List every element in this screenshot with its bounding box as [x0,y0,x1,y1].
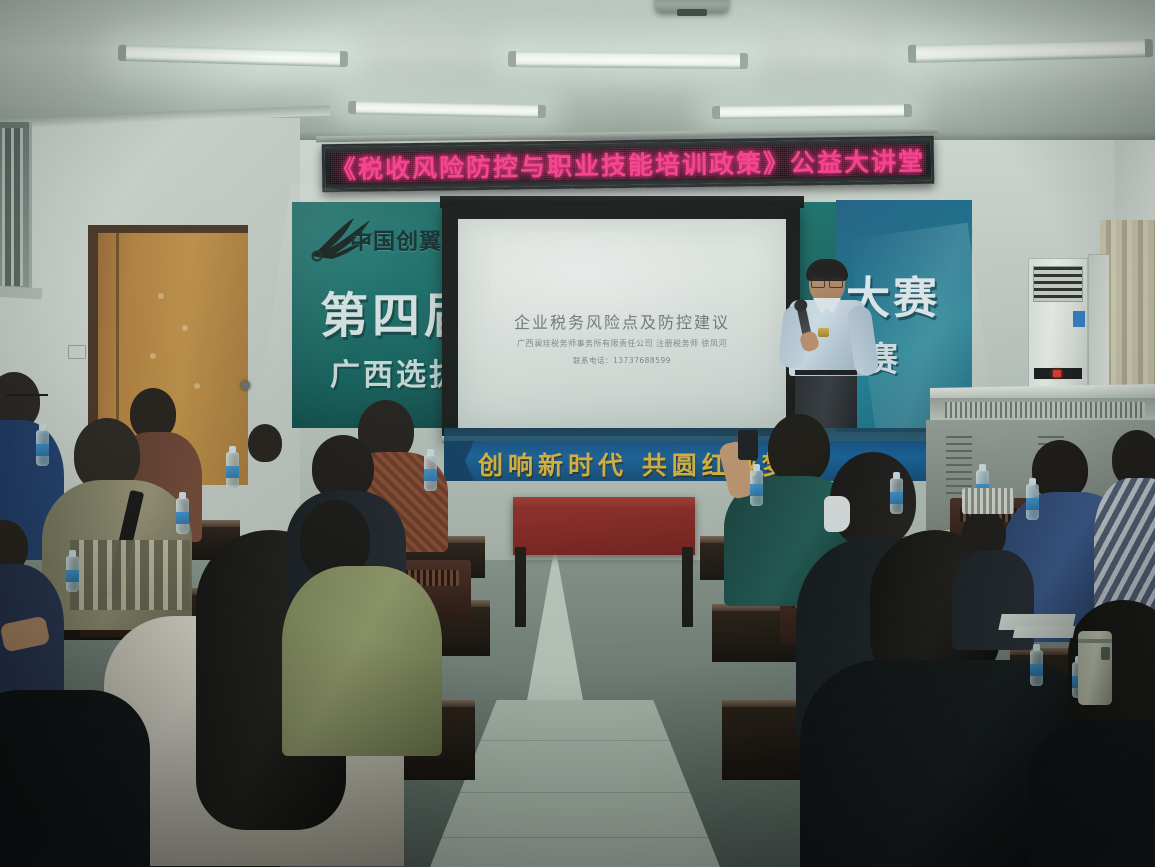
water-bottle[interactable] [750,470,763,506]
floor-standing-air-conditioner[interactable] [1028,258,1088,388]
ac-brand-badge [1073,311,1085,327]
ceiling-light-back-right [908,39,1153,63]
led-banner-text: 《税收风险防控与职业技能培训政策》公益大讲堂 [331,144,925,184]
projection-screen: 企业税务风险点及防控建议 广西澜珪税务师事务所有限责任公司 注册税务师 徐凤河 … [442,204,800,440]
slide-subtitle-line1: 广西澜珪税务师事务所有限责任公司 注册税务师 徐凤河 [458,338,786,349]
ceiling-light-front-right [712,104,912,119]
water-bottle[interactable] [66,556,79,592]
green-thermos-flask[interactable] [1078,631,1112,705]
patterned-handbag[interactable] [962,488,1014,514]
ac-vent-icon [1033,266,1083,302]
air-conditioner-side-panel [1088,254,1110,390]
face-mask-icon [824,496,850,532]
lecture-hall-photo: 《税收风险防控与职业技能培训政策》公益大讲堂 中国创翼 第四届 广西选拔 大赛 … [0,0,1155,867]
barred-window [0,122,32,292]
eyeglasses-icon [811,277,843,285]
water-bottle[interactable] [890,478,903,514]
water-bottle[interactable] [226,452,239,488]
loose-papers-on-desk[interactable] [1013,626,1076,638]
projected-slide: 企业税务风险点及防控建议 广西澜珪税务师事务所有限责任公司 注册税务师 徐凤河 … [458,219,786,428]
slide-subtitle-line2: 联系电话：13737688599 [458,355,786,366]
water-bottle[interactable] [1026,484,1039,520]
led-banner: 《税收风险防控与职业技能培训政策》公益大讲堂 [322,136,935,193]
cabinet-louver-vent [945,402,1145,418]
wristwatch-icon [818,328,829,337]
water-bottle[interactable] [176,498,189,534]
wall-light-switch[interactable] [68,345,86,359]
window-sill [0,286,42,299]
water-bottle[interactable] [1030,650,1043,686]
ceiling-light-back-left [118,45,348,67]
red-draped-table [513,497,695,627]
slide-title: 企业税务风险点及防控建议 [458,309,786,333]
presenter [773,262,877,426]
water-bottle[interactable] [36,430,49,466]
smartphone-icon[interactable] [738,430,758,460]
ceiling-projector [655,0,729,12]
ac-display-panel[interactable] [1034,368,1082,379]
ceiling-light-back-center [508,51,748,69]
green-banner-logo-text: 中国创翼 [350,224,442,256]
water-bottle[interactable] [424,455,437,491]
door-handle-icon[interactable] [241,381,250,390]
ceiling-light-front-left [348,101,546,118]
stage-backdrop-upper [444,428,930,442]
